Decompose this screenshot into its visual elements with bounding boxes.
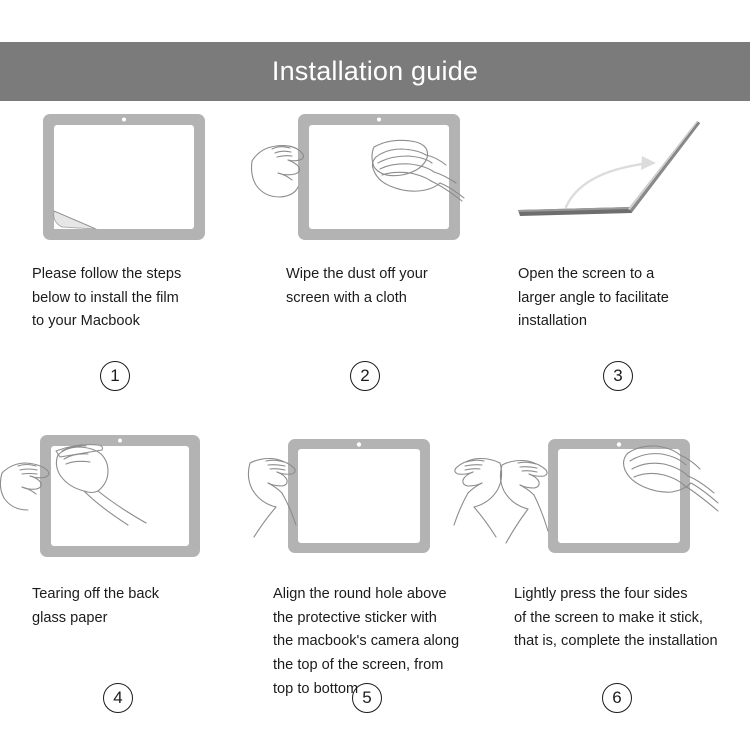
step-number-badge-6: 6 <box>602 683 632 713</box>
step-number-badge-3: 3 <box>603 361 633 391</box>
step-number-badge-2: 2 <box>350 361 380 391</box>
step-1-caption: Please follow the steps below to install… <box>0 251 250 421</box>
step-2-illustration <box>250 101 500 251</box>
step-2-caption: Wipe the dust off your screen with a clo… <box>250 251 500 421</box>
step-number-1: 1 <box>110 366 119 386</box>
step-6-caption: Lightly press the four sides of the scre… <box>500 571 750 750</box>
step-number-badge-1: 1 <box>100 361 130 391</box>
step-number-2: 2 <box>360 366 369 386</box>
step-panel-3: Open the screen to a larger angle to fac… <box>500 101 750 421</box>
step-panel-1: Please follow the steps below to install… <box>0 101 250 421</box>
page-title: Installation guide <box>272 58 478 85</box>
step-5-illustration <box>250 421 500 571</box>
step-4-illustration <box>0 421 250 571</box>
installation-steps-grid: Please follow the steps below to install… <box>0 101 750 750</box>
step-1-illustration <box>0 101 250 251</box>
step-5-caption: Align the round hole above the protectiv… <box>250 571 500 750</box>
step-panel-2: Wipe the dust off your screen with a clo… <box>250 101 500 421</box>
step-number-badge-5: 5 <box>352 683 382 713</box>
step-4-caption: Tearing off the back glass paper <box>0 571 250 750</box>
step-number-6: 6 <box>612 688 621 708</box>
step-number-4: 4 <box>113 688 122 708</box>
step-number-5: 5 <box>362 688 371 708</box>
step-3-illustration <box>500 101 750 251</box>
step-number-3: 3 <box>613 366 622 386</box>
header-bar: Installation guide <box>0 42 750 101</box>
step-6-illustration <box>500 421 750 571</box>
step-panel-6: Lightly press the four sides of the scre… <box>500 421 750 750</box>
step-panel-5: Align the round hole above the protectiv… <box>250 421 500 750</box>
step-3-caption: Open the screen to a larger angle to fac… <box>500 251 750 421</box>
step-number-badge-4: 4 <box>103 683 133 713</box>
step-panel-4: Tearing off the back glass paper 4 <box>0 421 250 750</box>
